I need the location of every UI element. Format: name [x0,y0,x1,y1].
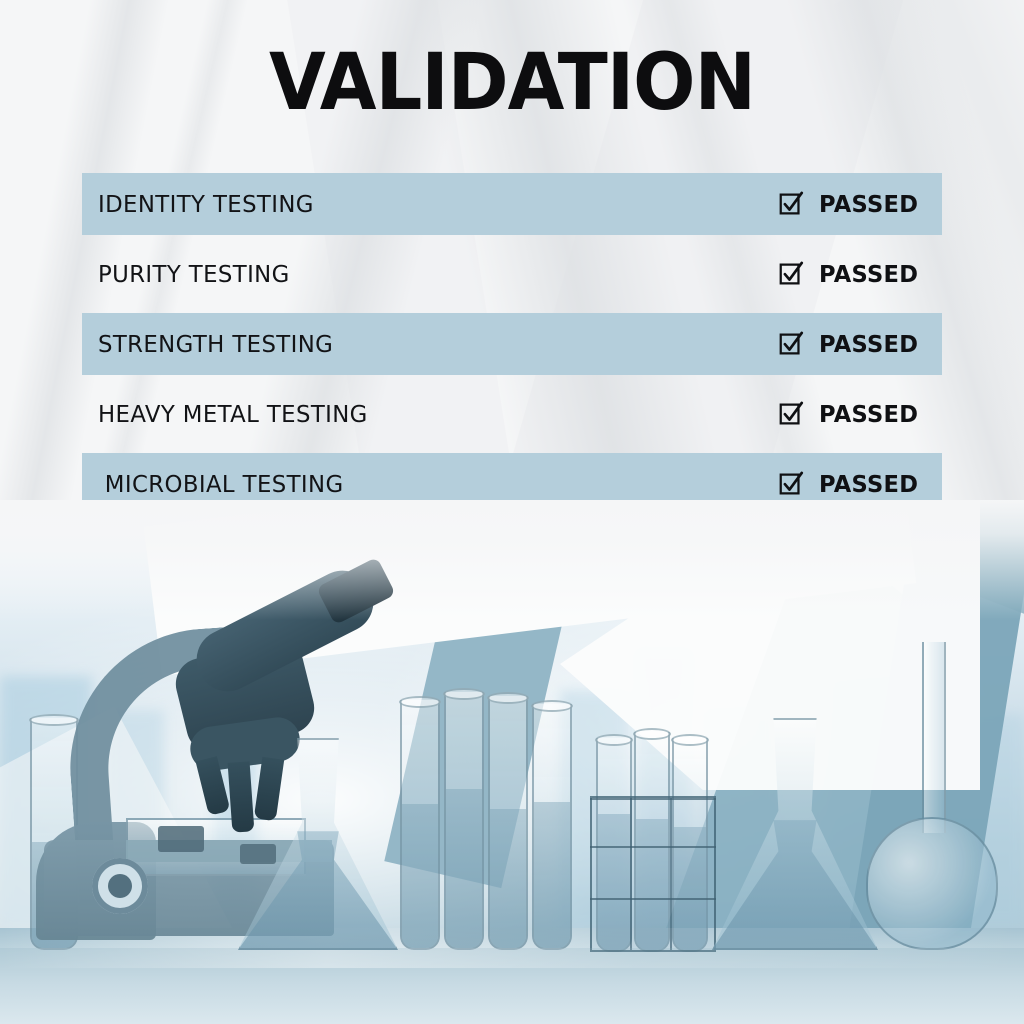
flask-bulb [866,817,998,950]
rack-post [630,798,632,950]
rack-post [670,798,672,950]
status-text: PASSED [819,190,918,218]
test-name-label: PURITY TESTING [98,260,290,288]
test-tube [532,704,572,950]
status-badge: PASSED [777,400,922,428]
test-tube [444,692,484,950]
checklist-row[interactable]: STRENGTH TESTINGPASSED [0,313,1024,375]
checked-box-icon [777,330,805,358]
tube-rim [595,734,633,746]
tube-rim [399,696,441,708]
tube-liquid [402,804,438,948]
erlenmeyer-flask [712,718,878,950]
tube-liquid [534,802,570,948]
checklist-row[interactable]: HEAVY METAL TESTINGPASSED [0,383,1024,445]
tube-liquid [446,789,482,948]
page-title: VALIDATION [31,44,994,122]
tube-rim [531,700,573,712]
status-badge: PASSED [777,260,922,288]
flask-neck [922,642,946,833]
validation-poster: VALIDATION IDENTITY TESTINGPASSEDPURITY … [0,0,1024,1024]
status-text: PASSED [819,470,918,498]
test-name-label: HEAVY METAL TESTING [98,400,368,428]
checked-box-icon [777,400,805,428]
checklist-row[interactable]: IDENTITY TESTINGPASSED [0,173,1024,235]
desk-reflection [0,948,1024,1024]
flask-outline [238,738,398,950]
photo-top-fade [0,500,1024,620]
status-text: PASSED [819,330,918,358]
checked-box-icon [777,470,805,498]
lab-photo [0,500,1024,1024]
status-badge: PASSED [777,470,922,498]
tube-rim [487,692,529,704]
checked-box-icon [777,190,805,218]
status-badge: PASSED [777,330,922,358]
test-tube [488,696,528,950]
checklist-row[interactable]: PURITY TESTINGPASSED [0,243,1024,305]
rack-bar [590,898,716,900]
flask-outline [712,718,878,950]
test-name-label: IDENTITY TESTING [98,190,314,218]
microscope-slide-clip [158,826,204,852]
validation-checklist: IDENTITY TESTINGPASSEDPURITY TESTINGPASS… [0,173,1024,523]
tube-rim [671,734,709,746]
test-name-label: MICROBIAL TESTING [98,470,344,498]
test-tube-rack [590,796,716,952]
status-text: PASSED [819,260,918,288]
erlenmeyer-flask [238,738,398,950]
rack-bar [590,846,716,848]
tube-rim [443,688,485,700]
status-badge: PASSED [777,190,922,218]
microscope-focus-knob [92,858,148,914]
volumetric-flask [866,642,998,950]
tube-liquid [490,809,526,948]
tube-rim [633,728,671,740]
status-text: PASSED [819,400,918,428]
test-tube [400,700,440,950]
test-name-label: STRENGTH TESTING [98,330,333,358]
rack-bar [590,798,716,800]
checked-box-icon [777,260,805,288]
